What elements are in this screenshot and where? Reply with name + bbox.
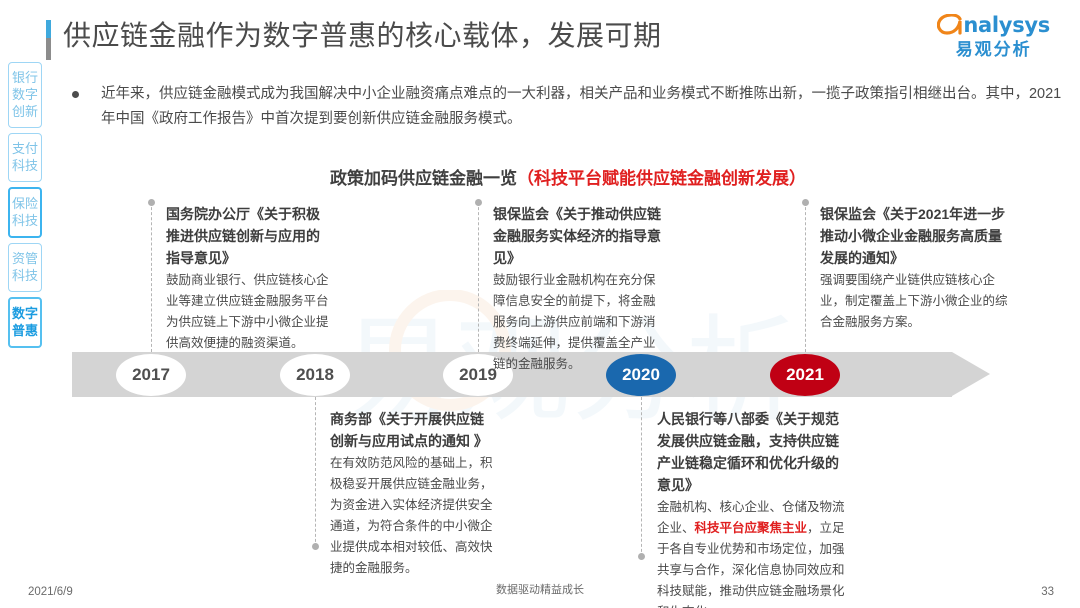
sidebar-item-payment-tech[interactable]: 支付科技 (8, 133, 42, 182)
connector-dot-2020 (638, 553, 645, 560)
entry-body: 鼓励商业银行、供应链核心企业等建立供应链金融服务平台为供应链上下游中小微企业提供… (166, 270, 332, 354)
page-title-row: 供应链金融作为数字普惠的核心载体，发展可期 (46, 16, 662, 60)
chart-title: 政策加码供应链金融一览（科技平台赋能供应链金融创新发展） (330, 164, 806, 189)
sidebar-item-digital-inclusive[interactable]: 数字普惠 (8, 297, 42, 348)
connector-2017 (151, 202, 153, 352)
footer-slogan: 数据驱动精益成长 (0, 581, 1080, 597)
year-label: 2019 (459, 365, 497, 385)
timeline-year-2017[interactable]: 2017 (116, 354, 186, 396)
timeline-year-2018[interactable]: 2018 (280, 354, 350, 396)
footer-page-number: 33 (1041, 586, 1054, 598)
connector-dot-2018 (312, 543, 319, 550)
page-title: 供应链金融作为数字普惠的核心载体，发展可期 (63, 16, 662, 56)
connector-2019 (478, 202, 480, 352)
intro-bullet: 近年来，供应链金融模式成为我国解决中小企业融资痛点难点的一大利器，相关产品和业务… (72, 82, 1062, 132)
timeline-entry-2021: 银保监会《关于2021年进一步推动小微企业金融服务高质量发展的通知》 强调要围绕… (820, 203, 1010, 333)
sidebar-item-label: 保险科技 (10, 195, 40, 229)
entry-title: 银保监会《关于推动供应链金融服务实体经济的指导意见》 (493, 203, 661, 269)
timeline-entry-2019: 银保监会《关于推动供应链金融服务实体经济的指导意见》 鼓励银行业金融机构在充分保… (493, 203, 661, 375)
connector-2020 (641, 397, 643, 557)
sidebar-tabs: 银行数字创新 支付科技 保险科技 资管科技 数字普惠 (8, 62, 42, 353)
entry-title: 人民银行等八部委《关于规范发展供应链金融，支持供应链产业链稳定循环和优化升级的意… (657, 408, 847, 496)
chart-title-parenthetical: （科技平台赋能供应链金融创新发展） (517, 169, 806, 188)
slide-root: 易观分析 供应链金融作为数字普惠的核心载体，发展可期 近年来，供应链金融模式成为… (0, 0, 1080, 608)
connector-2021 (805, 202, 807, 352)
entry-title: 商务部《关于开展供应链创新与应用试点的通知 》 (330, 408, 496, 452)
year-label: 2021 (786, 365, 824, 385)
connector-dot-2019 (475, 199, 482, 206)
timeline-entry-2018: 商务部《关于开展供应链创新与应用试点的通知 》 在有效防范风险的基础上，积极稳妥… (330, 408, 496, 579)
sidebar-item-bank-digital[interactable]: 银行数字创新 (8, 62, 42, 128)
entry-body: 鼓励银行业金融机构在充分保障信息安全的前提下，将金融服务向上游供应前端和下游消费… (493, 270, 661, 375)
entry-body: 强调要围绕产业链供应链核心企业，制定覆盖上下游小微企业的综合金融服务方案。 (820, 270, 1010, 333)
year-label: 2017 (132, 365, 170, 385)
logo-chinese-name: 易观分析 (937, 41, 1050, 58)
entry-body-highlight: 科技平台应聚焦主业 (695, 521, 808, 535)
sidebar-item-insurance-tech[interactable]: 保险科技 (8, 187, 42, 238)
connector-dot-2017 (148, 199, 155, 206)
entry-title: 银保监会《关于2021年进一步推动小微企业金融服务高质量发展的通知》 (820, 203, 1010, 269)
logo-wordmark-row: nalysys (937, 14, 1050, 36)
timeline-year-2021[interactable]: 2021 (770, 354, 840, 396)
logo-wordmark: nalysys (963, 15, 1050, 36)
brand-logo: nalysys 易观分析 (937, 14, 1050, 58)
sidebar-item-label: 数字普惠 (10, 305, 40, 339)
timeline-entry-2020: 人民银行等八部委《关于规范发展供应链金融，支持供应链产业链稳定循环和优化升级的意… (657, 408, 847, 608)
connector-2018 (315, 397, 317, 547)
entry-title: 国务院办公厅《关于积极推进供应链创新与应用的指导意见》 (166, 203, 332, 269)
analysys-swirl-icon (937, 14, 963, 36)
chart-title-main: 政策加码供应链金融一览 (330, 169, 517, 188)
bullet-dot-icon (72, 91, 79, 98)
sidebar-item-asset-tech[interactable]: 资管科技 (8, 243, 42, 292)
timeline-entry-2017: 国务院办公厅《关于积极推进供应链创新与应用的指导意见》 鼓励商业银行、供应链核心… (166, 203, 332, 354)
title-accent-bar (46, 20, 51, 60)
sidebar-item-label: 银行数字创新 (9, 69, 41, 120)
sidebar-item-label: 支付科技 (9, 140, 41, 174)
timeline-arrow-icon (952, 352, 990, 396)
connector-dot-2021 (802, 199, 809, 206)
intro-bullet-text: 近年来，供应链金融模式成为我国解决中小企业融资痛点难点的一大利器，相关产品和业务… (101, 82, 1062, 132)
entry-body: 在有效防范风险的基础上，积极稳妥开展供应链金融业务，为资金进入实体经济提供安全通… (330, 453, 496, 579)
year-label: 2018 (296, 365, 334, 385)
sidebar-item-label: 资管科技 (9, 250, 41, 284)
